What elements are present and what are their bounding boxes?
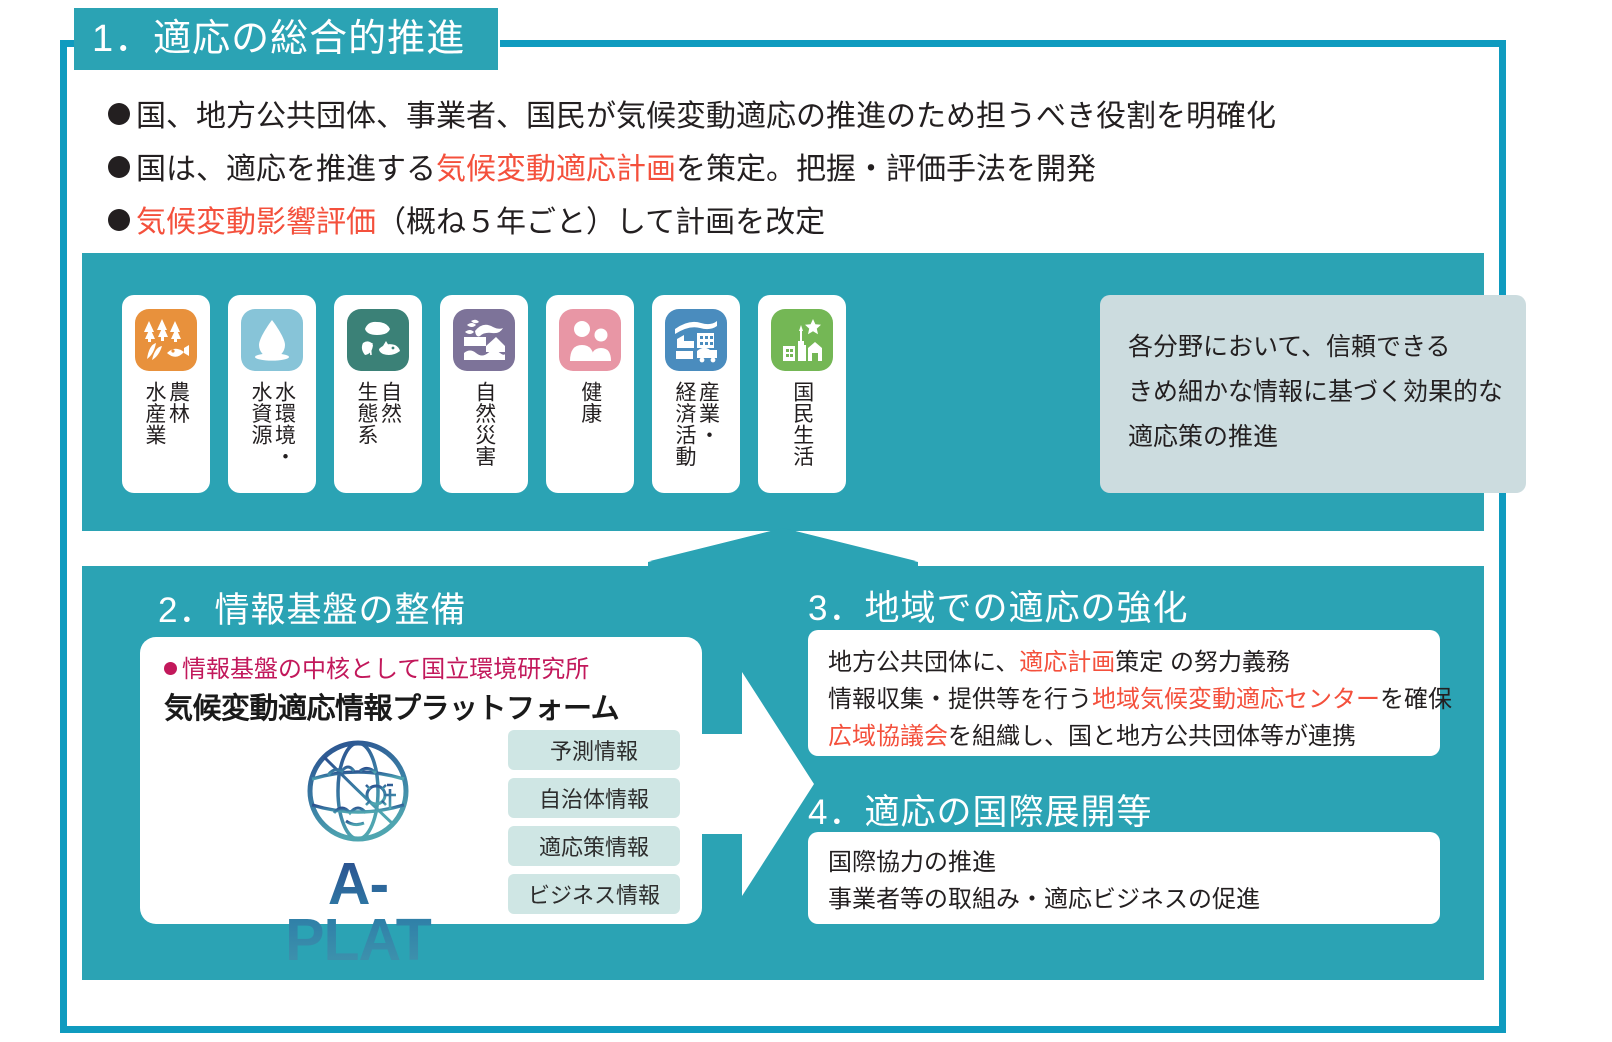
bullet-dot-icon [108,209,130,231]
plain-text: を確保 [1380,686,1452,713]
aplat-logo: A-PLAT [268,735,448,968]
highlighted-text: 広域協議会 [828,723,948,750]
bullet-item: 国は、適応を推進する気候変動適応計画を策定。把握・評価手法を開発 [108,143,1428,196]
domain-card-label: 自然生態系 [354,381,401,493]
plain-text: 国、地方公共団体、事業者、国民が気候変動適応の推進のため担うべき役割を明確化 [136,100,1276,133]
plain-text: 国は、適応を推進する [136,153,436,186]
plain-text: （概ね５年ごと）して計画を改定 [376,206,825,239]
arrow-right-icon [698,672,814,896]
aplat-tag[interactable]: 予測情報 [508,730,680,770]
domain-note-line: 適応策の推進 [1128,415,1526,460]
bullet-dot-icon [164,662,177,675]
domain-card[interactable]: 自然生態系 [334,295,422,493]
domain-card[interactable]: 健康 [546,295,634,493]
plain-text: を組織し、国と地方公共団体等が連携 [948,723,1356,750]
section4-panel: 国際協力の推進事業者等の取組み・適応ビジネスの促進 [808,832,1440,924]
flood-disaster-icon [453,309,515,371]
domain-card[interactable]: 国民生活 [758,295,846,493]
section1-bullet-list: 国、地方公共団体、事業者、国民が気候変動適応の推進のため担うべき役割を明確化国は… [108,90,1428,249]
aplat-tag[interactable]: 適応策情報 [508,826,680,866]
infographic-root: 1．適応の総合的推進 国、地方公共団体、事業者、国民が気候変動適応の推進のため担… [0,0,1612,1042]
domain-card-list: 農林水産業 水環境・水資源 自然生態系 自然災害 健康 [122,295,846,493]
globe-nature-icon [302,834,414,851]
domain-note-line: きめ細かな情報に基づく効果的な [1128,370,1526,415]
plain-text: 策定 の努力義務 [1115,649,1290,676]
domain-card-label: 産業・経済活動 [672,381,719,493]
panel-line: 事業者等の取組み・適応ビジネスの促進 [828,881,1440,918]
aplat-subtitle-text: 情報基盤の中核として国立環境研究所 [182,656,589,683]
city-life-icon [771,309,833,371]
domain-card-label: 自然災害 [472,381,496,493]
panel-line: 地方公共団体に、適応計画策定 の努力義務 [828,644,1440,681]
aplat-subtitle: 情報基盤の中核として国立環境研究所 [164,649,589,684]
domain-card[interactable]: 農林水産業 [122,295,210,493]
plain-text: 情報収集・提供等を行う [828,686,1092,713]
factory-industry-icon [665,309,727,371]
section3-title: 3．地域での適応の強化 [808,580,1188,631]
section3-panel: 地方公共団体に、適応計画策定 の努力義務情報収集・提供等を行う地域気候変動適応セ… [808,630,1440,756]
panel-line: 国際協力の推進 [828,844,1440,881]
leaf-bird-icon [347,309,409,371]
domain-card[interactable]: 自然災害 [440,295,528,493]
section4-title: 4．適応の国際展開等 [808,784,1152,835]
aplat-tag[interactable]: ビジネス情報 [508,874,680,914]
highlighted-text: 地域気候変動適応センター [1092,686,1380,713]
domain-card-label: 農林水産業 [142,381,189,493]
aplat-wordmark: A-PLAT [268,856,448,968]
plain-text: 地方公共団体に、 [828,649,1019,676]
plain-text: を策定。把握・評価手法を開発 [676,153,1096,186]
domain-card-label: 水環境・水資源 [248,381,295,493]
domain-card-label: 国民生活 [790,381,814,493]
aplat-card: 情報基盤の中核として国立環境研究所 気候変動適応情報プラットフォーム [140,637,702,924]
panel-line: 情報収集・提供等を行う地域気候変動適応センターを確保 [828,681,1440,718]
section2-title: 2．情報基盤の整備 [158,582,466,633]
domain-note-line: 各分野において、信頼できる [1128,325,1526,370]
aplat-tag[interactable]: 自治体情報 [508,778,680,818]
domain-card-label: 健康 [578,381,602,493]
domain-card[interactable]: 産業・経済活動 [652,295,740,493]
domain-card[interactable]: 水環境・水資源 [228,295,316,493]
highlighted-text: 気候変動影響評価 [136,206,376,239]
bullet-dot-icon [108,103,130,125]
section1-title: 1．適応の総合的推進 [74,8,498,70]
panel-line: 広域協議会を組織し、国と地方公共団体等が連携 [828,718,1440,755]
plain-text: 国際協力の推進 [828,849,996,876]
plain-text: 事業者等の取組み・適応ビジネスの促進 [828,886,1260,913]
water-drop-icon [241,309,303,371]
bullet-item: 国、地方公共団体、事業者、国民が気候変動適応の推進のため担うべき役割を明確化 [108,90,1428,143]
bullet-item: 気候変動影響評価（概ね５年ごと）して計画を改定 [108,196,1428,249]
highlighted-text: 適応計画 [1019,649,1115,676]
bullet-dot-icon [108,156,130,178]
highlighted-text: 気候変動適応計画 [436,153,676,186]
domain-note-box: 各分野において、信頼できるきめ細かな情報に基づく効果的な適応策の推進 [1100,295,1526,493]
people-health-icon [559,309,621,371]
aplat-tag-list: 予測情報自治体情報適応策情報ビジネス情報 [508,730,680,914]
forest-fish-icon [135,309,197,371]
domain-band: 農林水産業 水環境・水資源 自然生態系 自然災害 健康 [82,253,1484,531]
aplat-heading: 気候変動適応情報プラットフォーム [164,685,619,727]
